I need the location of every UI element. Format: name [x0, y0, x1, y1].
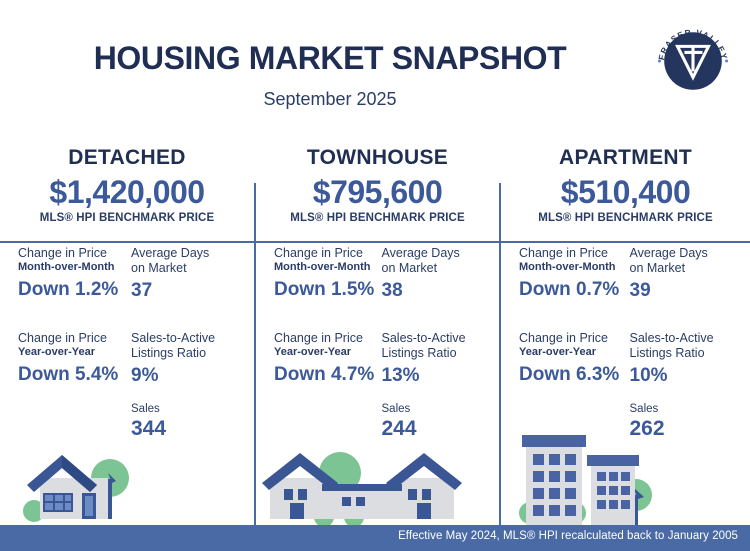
page-subtitle: September 2025: [0, 89, 660, 110]
benchmark-price: $795,600: [256, 173, 499, 211]
benchmark-price: $1,420,000: [0, 173, 254, 211]
stat-sales: Sales 244: [378, 402, 482, 441]
detached-house-icon: [10, 445, 180, 525]
benchmark-price: $510,400: [501, 173, 750, 211]
stat-avg-days: Average Days on Market 37: [127, 246, 236, 303]
stat-avg-days: Average Days on Market 39: [626, 246, 733, 303]
stat-sales-to-active: Sales-to-Active Listings Ratio 10%: [626, 331, 733, 388]
stat-change-yoy: Change in Price Year-over-Year Down 4.7%: [274, 331, 378, 388]
stats-grid: Change in Price Month-over-Month Down 1.…: [256, 246, 499, 441]
stat-label: Sales-to-Active: [131, 331, 236, 346]
stat-label: Change in Price: [519, 246, 626, 261]
property-type-heading: APARTMENT: [501, 145, 750, 171]
property-type-heading: TOWNHOUSE: [256, 145, 499, 171]
stat-value: Down 4.7%: [274, 363, 378, 387]
stat-label: Change in Price: [519, 331, 626, 346]
stat-change-yoy: Change in Price Year-over-Year Down 5.4%: [18, 331, 127, 388]
row-spacer: [274, 303, 481, 331]
stat-label: Sales-to-Active: [630, 331, 733, 346]
row-spacer: [18, 303, 236, 331]
stat-label: Average Days: [382, 246, 482, 261]
stat-value: Down 6.3%: [519, 363, 626, 387]
fraser-valley-real-estate-board-logo: FRASER VALLEY REAL ESTATE BOARD: [650, 18, 736, 104]
benchmark-price-label: MLS® HPI BENCHMARK PRICE: [0, 212, 254, 224]
stat-label-2: Listings Ratio: [131, 346, 236, 361]
stats-row-2: Change in Price Year-over-Year Down 6.3%…: [519, 331, 732, 388]
stats-row-3: Sales 344: [18, 402, 236, 441]
stat-change-mom: Change in Price Month-over-Month Down 1.…: [274, 246, 378, 303]
stat-value: Down 1.2%: [18, 278, 127, 302]
stat-sales: Sales 344: [127, 402, 236, 441]
stat-value: 39: [630, 279, 733, 303]
stat-label-2: Listings Ratio: [630, 346, 733, 361]
stat-change-yoy: Change in Price Year-over-Year Down 6.3%: [519, 331, 626, 388]
footer-bar: Effective May 2024, MLS® HPI recalculate…: [0, 525, 750, 551]
stat-label: Change in Price: [18, 331, 127, 346]
apartment-buildings-icon: [512, 425, 682, 525]
stat-sales-to-active: Sales-to-Active Listings Ratio 13%: [378, 331, 482, 388]
stats-row-3: Sales 244: [274, 402, 481, 441]
stat-label-2: on Market: [630, 261, 733, 276]
stat-avg-days: Average Days on Market 38: [378, 246, 482, 303]
stat-sublabel: Year-over-Year: [519, 346, 626, 359]
stat-sublabel: Year-over-Year: [18, 346, 127, 359]
stat-label-2: Listings Ratio: [382, 346, 482, 361]
stats-grid: Change in Price Month-over-Month Down 1.…: [0, 246, 254, 441]
stats-row-1: Change in Price Month-over-Month Down 1.…: [274, 246, 481, 303]
stat-sales-to-active: Sales-to-Active Listings Ratio 9%: [127, 331, 236, 388]
stat-label: Average Days: [131, 246, 236, 261]
stat-value: 344: [131, 416, 236, 441]
stat-value: Down 1.5%: [274, 278, 378, 302]
stat-value: Down 5.4%: [18, 363, 127, 387]
stats-row-2: Change in Price Year-over-Year Down 5.4%…: [18, 331, 236, 388]
benchmark-price-label: MLS® HPI BENCHMARK PRICE: [256, 212, 499, 224]
stat-label: Sales: [131, 402, 236, 416]
stat-value: 37: [131, 279, 236, 303]
stat-value: 244: [382, 416, 482, 441]
stat-label: Sales: [630, 402, 733, 416]
stat-value: 10%: [630, 364, 733, 388]
stats-row-1: Change in Price Month-over-Month Down 1.…: [18, 246, 236, 303]
stat-label: Sales: [382, 402, 482, 416]
footer-note: Effective May 2024, MLS® HPI recalculate…: [398, 530, 738, 542]
stat-empty: [274, 402, 378, 441]
stat-label: Average Days: [630, 246, 733, 261]
stats-row-1: Change in Price Month-over-Month Down 0.…: [519, 246, 732, 303]
stat-label: Change in Price: [274, 331, 378, 346]
townhouse-row-icon: [262, 445, 462, 525]
header: HOUSING MARKET SNAPSHOT September 2025: [0, 0, 750, 130]
stat-empty: [18, 402, 127, 441]
stat-label-2: on Market: [131, 261, 236, 276]
stat-value: 9%: [131, 364, 236, 388]
stats-grid: Change in Price Month-over-Month Down 0.…: [501, 246, 750, 441]
property-type-heading: DETACHED: [0, 145, 254, 171]
stat-sublabel: Month-over-Month: [18, 261, 127, 274]
stat-sublabel: Month-over-Month: [274, 261, 378, 274]
stats-row-2: Change in Price Year-over-Year Down 4.7%…: [274, 331, 481, 388]
stat-change-mom: Change in Price Month-over-Month Down 0.…: [519, 246, 626, 303]
stat-sublabel: Year-over-Year: [274, 346, 378, 359]
benchmark-price-label: MLS® HPI BENCHMARK PRICE: [501, 212, 750, 224]
page-title: HOUSING MARKET SNAPSHOT: [0, 40, 660, 77]
stat-label: Change in Price: [274, 246, 378, 261]
row-spacer: [519, 303, 732, 331]
stat-change-mom: Change in Price Month-over-Month Down 1.…: [18, 246, 127, 303]
stat-value: 13%: [382, 364, 482, 388]
stat-label-2: on Market: [382, 261, 482, 276]
stat-value: Down 0.7%: [519, 278, 626, 302]
stat-label: Change in Price: [18, 246, 127, 261]
stat-sublabel: Month-over-Month: [519, 261, 626, 274]
stat-label: Sales-to-Active: [382, 331, 482, 346]
stat-value: 38: [382, 279, 482, 303]
